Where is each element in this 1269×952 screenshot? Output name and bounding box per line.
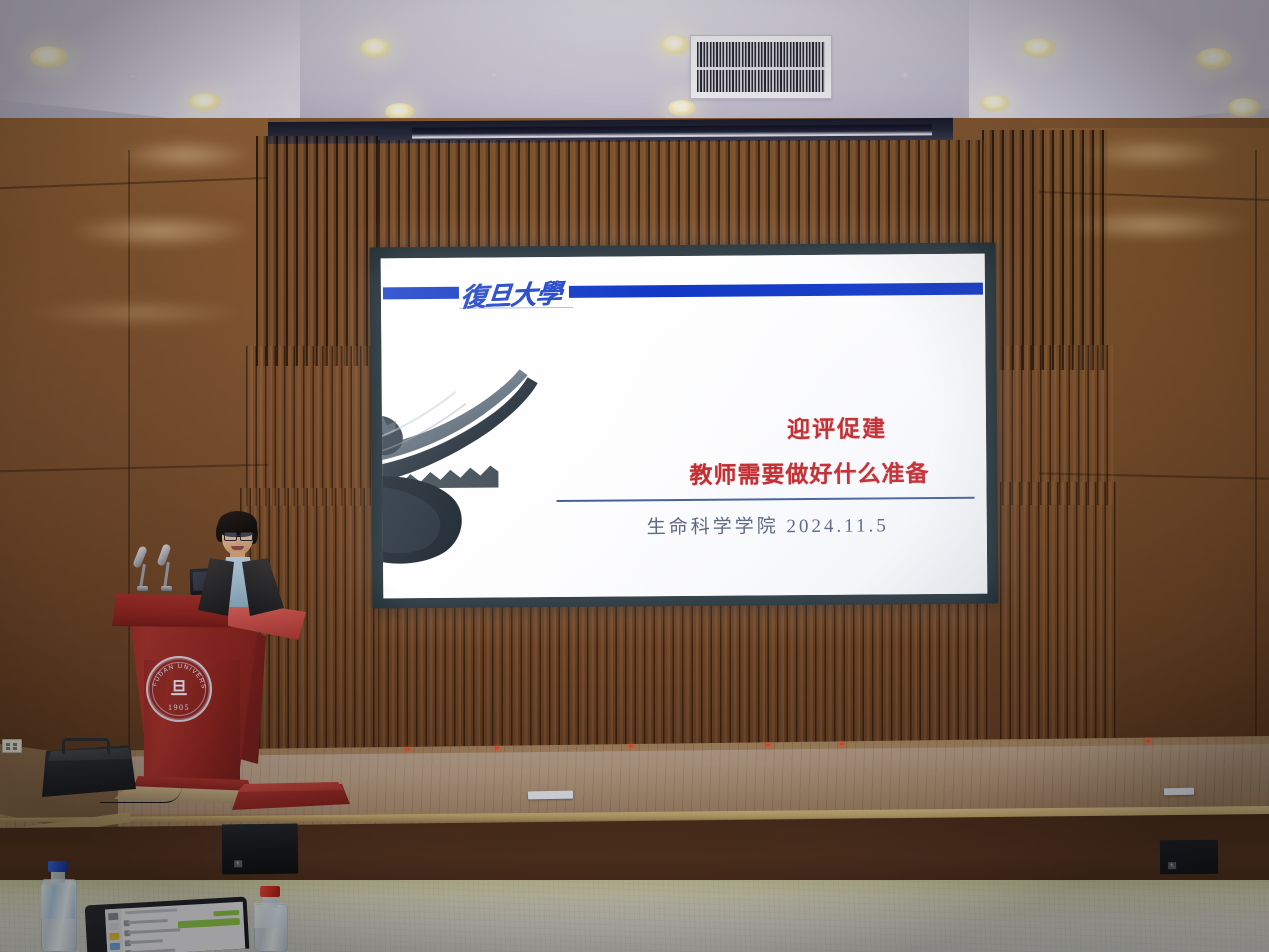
presenter-glasses-left: [224, 532, 237, 541]
wall-reflection: [70, 215, 250, 247]
slide-title-line2: 教师需要做好什么准备: [644, 454, 974, 491]
wall-slats-mid-right: [1002, 345, 1114, 505]
ceiling-light: [980, 95, 1010, 112]
ceiling-light: [1022, 38, 1056, 58]
presenter: [196, 508, 288, 628]
outlet-slot: [13, 747, 17, 750]
sidebar-icon[interactable]: [108, 913, 118, 921]
sidebar-icon[interactable]: [110, 943, 120, 951]
equipment-case-handle[interactable]: [62, 738, 110, 754]
ceiling-light: [668, 100, 696, 116]
mic-capsule: [132, 545, 148, 568]
bottle-cap: [48, 861, 68, 872]
vent-divider: [697, 67, 825, 70]
wall-slats-lower-right: [1000, 482, 1118, 760]
wall-slats-upper-right: [982, 130, 1108, 370]
outlet-slot: [6, 743, 10, 746]
stage-floor-marker: [528, 791, 573, 800]
wall-slats-below-screen: [378, 598, 990, 758]
message-line: [128, 928, 180, 934]
outlet-slot: [13, 743, 17, 746]
mic-capsule: [156, 543, 171, 566]
wall-reflection: [30, 300, 240, 326]
svg-text:旦: 旦: [171, 679, 188, 698]
speaker-brand-mark: Ⱡ: [234, 860, 242, 867]
laser-dot: [1146, 740, 1150, 742]
mic-base: [161, 586, 172, 591]
power-outlet[interactable]: [2, 739, 22, 753]
mic-base: [137, 586, 148, 591]
svg-text:1905: 1905: [168, 703, 190, 712]
ceiling-light: [360, 38, 392, 58]
lecture-hall-photo: 復旦大學 迎评促建 教师需要做好什么准备 生命科学学院 2024.11.5: [0, 0, 1269, 952]
water-bottle-right[interactable]: [254, 886, 286, 952]
mic-stem: [139, 564, 145, 588]
laser-dot: [406, 748, 410, 750]
message-line: [129, 939, 163, 944]
wall-slats-upper-left: [256, 136, 380, 366]
laser-dot: [495, 747, 499, 749]
projection-screen: 復旦大學 迎评促建 教师需要做好什么准备 生命科学学院 2024.11.5: [381, 254, 988, 599]
ceiling-sprinkler: [489, 72, 499, 79]
microphone-right: [156, 544, 176, 594]
outlet-slot: [6, 747, 10, 750]
chat-header: [125, 908, 177, 914]
laser-dot: [840, 743, 844, 745]
ceiling-air-vent: [690, 35, 832, 99]
wall-slats-mid-left: [246, 346, 382, 506]
microphone-left: [132, 546, 152, 594]
bottle-cap: [260, 886, 279, 897]
laser-dot: [766, 744, 770, 746]
ceiling-light: [30, 46, 68, 68]
temple-roof-eave-image: [381, 325, 609, 567]
message-line: [129, 949, 175, 952]
sidebar-icon[interactable]: [109, 923, 119, 931]
fudan-seal-emblem: FUDAN UNIVERSITY 1905 旦: [146, 656, 212, 722]
sidebar-icon[interactable]: [109, 933, 119, 941]
message-line: [128, 919, 168, 924]
water-bottle-left[interactable]: [41, 861, 75, 952]
presenter-glasses-bridge: [236, 535, 240, 536]
speaker-brand-mark: Ⱡ: [1168, 862, 1176, 869]
slide-accent-bar-left: [383, 287, 459, 300]
stage-speaker-right: Ⱡ: [1160, 840, 1218, 875]
bottle-label: [41, 885, 75, 920]
ceiling-light: [188, 93, 222, 111]
wall-seam: [1255, 150, 1257, 750]
tablet-screen[interactable]: [105, 902, 245, 952]
slide-subtitle: 生命科学学院 2024.11.5: [593, 510, 943, 540]
slide-title-line1: 迎评促建: [712, 409, 962, 445]
ceiling-light: [660, 35, 690, 55]
presenter-jacket-left: [198, 558, 234, 616]
presenter-glasses-right: [240, 532, 253, 541]
stage-floor-marker: [1164, 788, 1194, 796]
chat-bubble-outgoing: [178, 918, 240, 928]
tablet-device[interactable]: [85, 897, 250, 952]
wall-slats-behind-screen: [378, 140, 986, 250]
presenter-jacket-right: [242, 558, 284, 616]
presenter-smile: [231, 546, 244, 550]
bottle-label: [254, 903, 286, 928]
wall-reflection: [120, 140, 250, 170]
mic-stem: [163, 562, 169, 588]
chat-bubble-outgoing: [213, 910, 239, 916]
equipment-cable: [100, 786, 182, 803]
fudan-university-logo: 復旦大學: [459, 273, 569, 312]
ceiling-sprinkler: [900, 72, 910, 79]
ceiling-sprinkler: [127, 73, 138, 80]
laser-dot: [629, 745, 633, 747]
ceiling-light: [1196, 48, 1232, 70]
ceiling-light: [1228, 98, 1260, 117]
stage-speaker-left: Ⱡ: [222, 824, 299, 875]
